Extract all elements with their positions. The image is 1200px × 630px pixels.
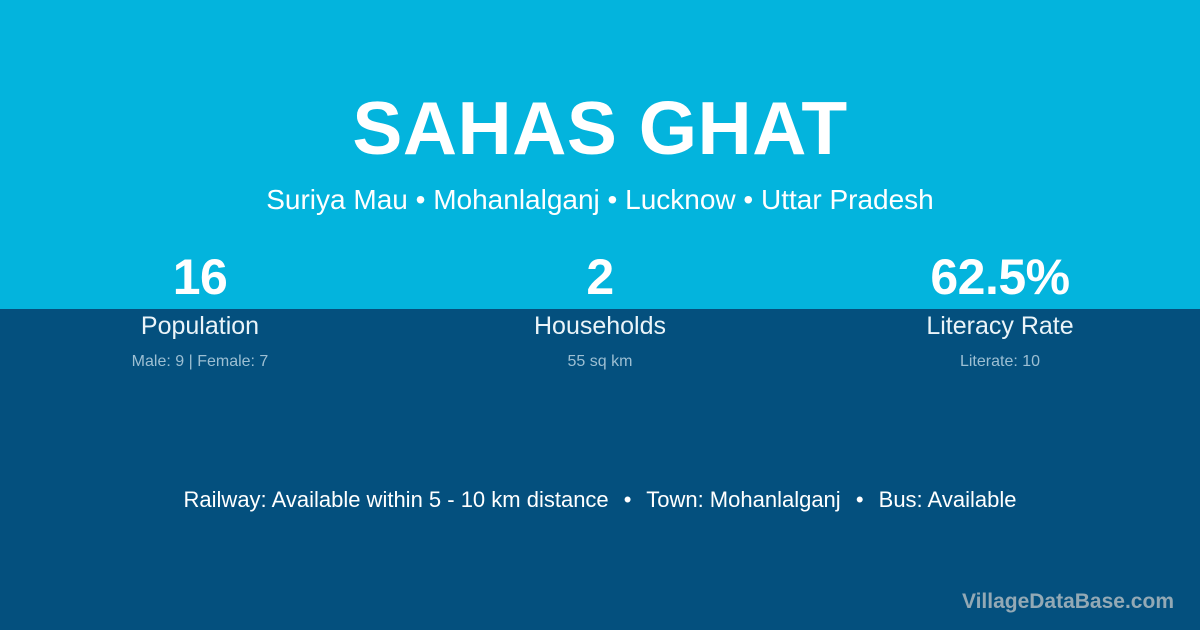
page-title: SAHAS GHAT	[0, 82, 1200, 174]
bullet-separator-icon: •	[847, 484, 873, 516]
stats-row: 16 Population Male: 9 | Female: 7 2 Hous…	[0, 246, 1200, 373]
facility-bus: Bus: Available	[879, 487, 1017, 512]
stat-literacy-rate: 62.5% Literacy Rate Literate: 10	[800, 246, 1200, 373]
breadcrumb: Suriya Mau • Mohanlalganj • Lucknow • Ut…	[0, 181, 1200, 219]
facility-railway: Railway: Available within 5 - 10 km dist…	[184, 487, 609, 512]
site-watermark: VillageDataBase.com	[962, 588, 1174, 616]
facility-town: Town: Mohanlalganj	[646, 487, 840, 512]
village-info-card: SAHAS GHAT Suriya Mau • Mohanlalganj • L…	[0, 0, 1200, 630]
stat-subtext: Literate: 10	[800, 351, 1200, 373]
stat-subtext: Male: 9 | Female: 7	[0, 351, 400, 373]
stat-label: Households	[400, 310, 800, 343]
stat-label: Literacy Rate	[800, 310, 1200, 343]
stat-label: Population	[0, 310, 400, 343]
stat-households: 2 Households 55 sq km	[400, 246, 800, 373]
bullet-separator-icon: •	[615, 484, 641, 516]
stat-population: 16 Population Male: 9 | Female: 7	[0, 246, 400, 373]
stat-value: 62.5%	[800, 246, 1200, 308]
facilities-line: Railway: Available within 5 - 10 km dist…	[0, 484, 1200, 516]
stat-value: 2	[400, 246, 800, 308]
stat-subtext: 55 sq km	[400, 351, 800, 373]
stat-value: 16	[0, 246, 400, 308]
